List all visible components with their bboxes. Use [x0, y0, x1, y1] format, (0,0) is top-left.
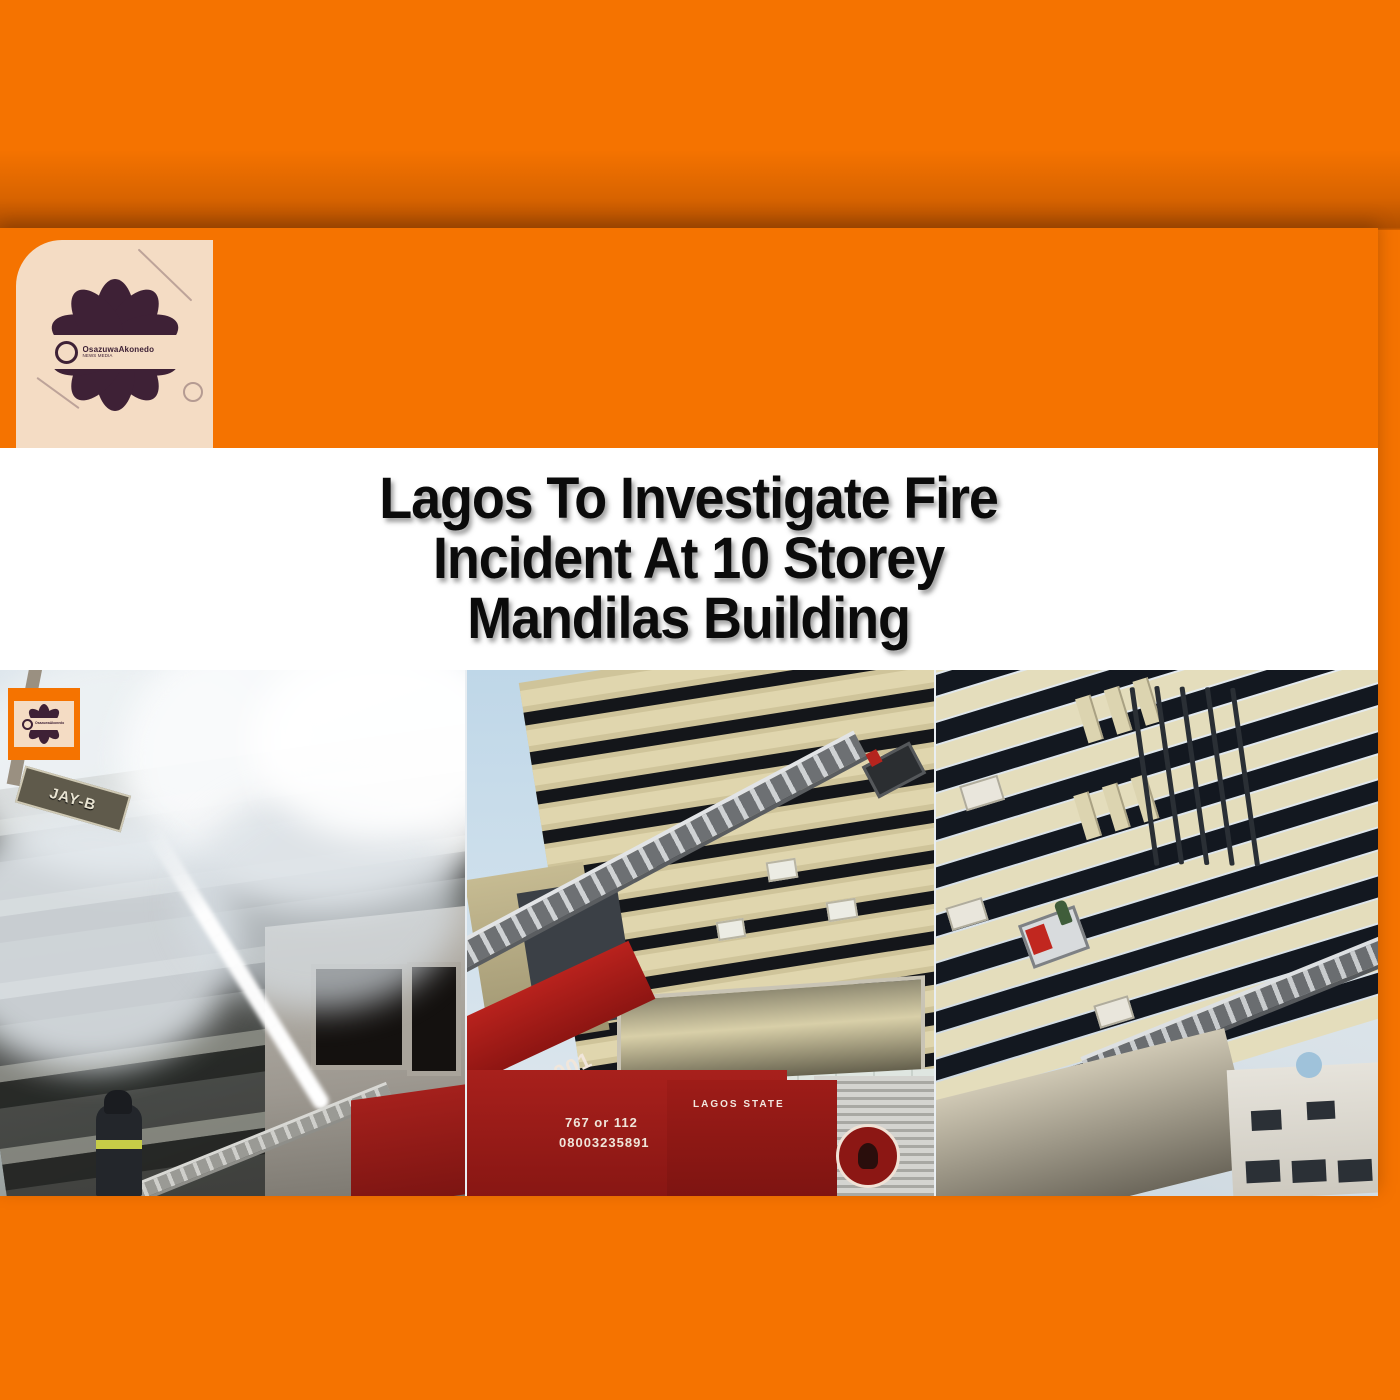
- photo-facade-closeup[interactable]: [934, 670, 1378, 1196]
- brand-bar: OsazuwaAkonedo NEWS MEDIA: [0, 228, 1378, 448]
- photo2-emergency-line: 767 or 112: [565, 1115, 638, 1130]
- photo2-agency-seal: [836, 1124, 900, 1188]
- watermark-flower-icon: OsazuwaAkonedo: [14, 701, 74, 747]
- watermark-mark-icon: [22, 719, 33, 730]
- photo-ladder-truck[interactable]: 001 LAGOS STATE 767 or 112 08003235891: [465, 670, 934, 1196]
- photo2-agency-label: LAGOS STATE: [693, 1099, 785, 1110]
- logo-corner-dot-icon: [183, 382, 203, 402]
- page-background: OsazuwaAkonedo NEWS MEDIA Lagos To Inves…: [0, 0, 1400, 1400]
- logo-tagline-text: NEWS MEDIA: [83, 354, 155, 359]
- headline-band: Lagos To Investigate Fire Incident At 10…: [0, 448, 1378, 670]
- flower-logo[interactable]: OsazuwaAkonedo NEWS MEDIA: [16, 240, 213, 450]
- card-drop-shadow: [0, 150, 1400, 230]
- photo3-neighbour-building: [1227, 1062, 1378, 1196]
- logo-mark-icon: [55, 341, 78, 364]
- photo1-firefighter: [96, 1104, 142, 1196]
- watermark-wordmark: OsazuwaAkonedo: [35, 722, 64, 726]
- photo-strip: JAY-B OsazuwaAkonedo: [0, 670, 1378, 1196]
- photo-fire-smoke[interactable]: JAY-B OsazuwaAkonedo: [0, 670, 465, 1196]
- photo1-fire-truck: [351, 1084, 465, 1196]
- photo2-emergency-phone: 08003235891: [559, 1135, 650, 1150]
- photo2-fire-truck-cab: [667, 1080, 837, 1196]
- photo3-satellite-dish-icon: [1296, 1052, 1322, 1078]
- logo-wordmark-band: OsazuwaAkonedo NEWS MEDIA: [49, 335, 181, 369]
- page-title: Lagos To Investigate Fire Incident At 10…: [343, 469, 1036, 648]
- news-card: OsazuwaAkonedo NEWS MEDIA Lagos To Inves…: [0, 228, 1378, 1196]
- osazuwaakonedo-watermark[interactable]: OsazuwaAkonedo: [8, 688, 80, 760]
